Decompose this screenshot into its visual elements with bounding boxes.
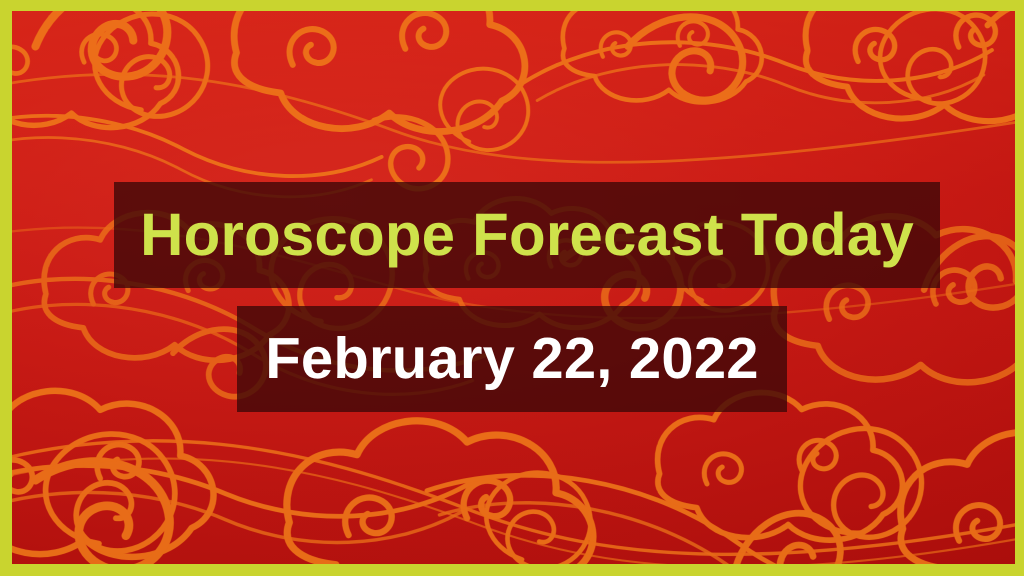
date-band: February 22, 2022 <box>237 306 787 412</box>
date-text: February 22, 2022 <box>265 330 758 388</box>
page-title: Horoscope Forecast Today <box>140 205 914 265</box>
title-band: Horoscope Forecast Today <box>114 182 940 288</box>
horoscope-poster: Horoscope Forecast Today February 22, 20… <box>0 0 1024 576</box>
